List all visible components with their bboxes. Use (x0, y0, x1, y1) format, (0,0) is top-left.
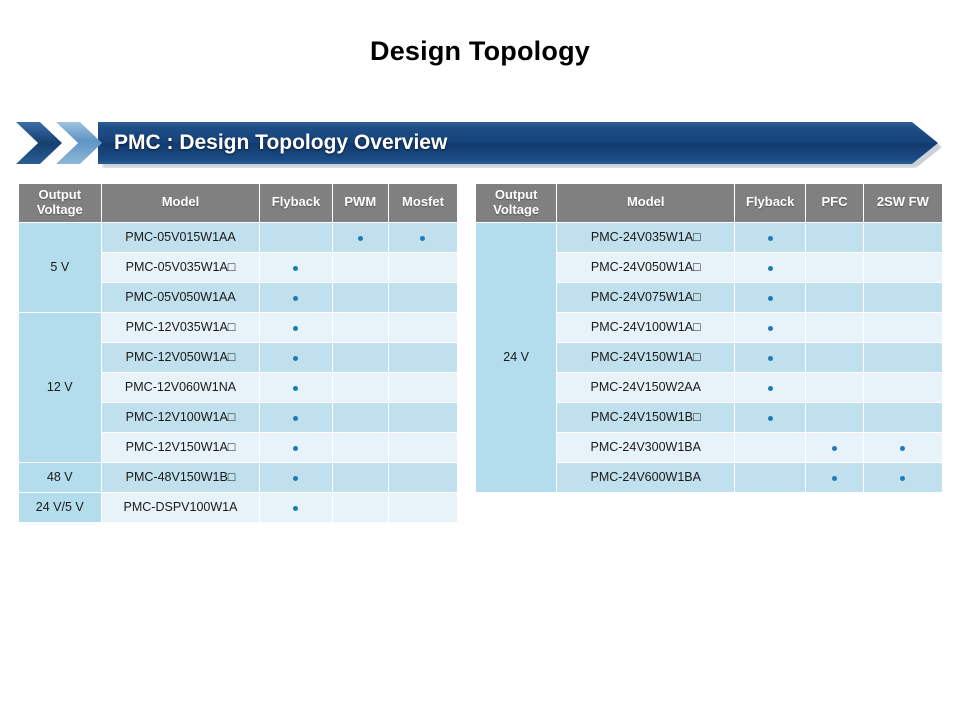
table-header-row-right: Output Voltage Model Flyback PFC 2SW FW (476, 184, 943, 223)
bullet-icon (358, 446, 363, 451)
column-header-pfc: PFC (806, 184, 864, 223)
bullet-icon (420, 296, 425, 301)
flyback-mark (735, 282, 806, 312)
model-name: PMC-12V035W1A□ (101, 312, 260, 342)
model-name: PMC-12V050W1A□ (101, 342, 260, 372)
flyback-mark (260, 462, 332, 492)
bullet-icon (900, 476, 905, 481)
pfc-mark (806, 312, 864, 342)
bullet-icon (768, 296, 773, 301)
model-name: PMC-DSPV100W1A (101, 492, 260, 522)
bullet-icon (420, 326, 425, 331)
flyback-mark (260, 312, 332, 342)
column-header-flyback: Flyback (735, 184, 806, 223)
bullet-icon (900, 326, 905, 331)
bullet-icon (832, 416, 837, 421)
bullet-icon (900, 296, 905, 301)
model-name: PMC-05V015W1AA (101, 222, 260, 252)
bullet-icon (358, 506, 363, 511)
table-row: 24 V PMC-24V035W1A□ (476, 222, 943, 252)
pfc-mark (806, 372, 864, 402)
bullet-icon (768, 356, 773, 361)
sw2fw-mark (863, 462, 942, 492)
sw2fw-mark (863, 282, 942, 312)
voltage-group-label: 12 V (19, 312, 102, 462)
flyback-mark (735, 432, 806, 462)
bullet-icon (832, 386, 837, 391)
bullet-icon (358, 296, 363, 301)
model-name: PMC-24V050W1A□ (557, 252, 735, 282)
bullet-icon (900, 446, 905, 451)
mosfet-mark (388, 222, 457, 252)
pfc-mark (806, 222, 864, 252)
flyback-mark (260, 402, 332, 432)
flyback-mark (735, 462, 806, 492)
bullet-icon (900, 266, 905, 271)
model-name: PMC-24V035W1A□ (557, 222, 735, 252)
bullet-icon (900, 236, 905, 241)
bullet-icon (293, 446, 298, 451)
table-body-right: 24 V PMC-24V035W1A□ PMC-24V050W1A□ PMC-2… (476, 222, 943, 492)
chevron-right-icon (56, 122, 102, 164)
pfc-mark (806, 402, 864, 432)
bullet-icon (358, 326, 363, 331)
bullet-icon (293, 236, 298, 241)
pwm-mark (332, 372, 388, 402)
bullet-icon (420, 356, 425, 361)
section-banner: PMC : Design Topology Overview (14, 122, 938, 164)
bullet-icon (768, 446, 773, 451)
column-header-mosfet: Mosfet (388, 184, 457, 223)
column-header-pwm: PWM (332, 184, 388, 223)
model-name: PMC-05V035W1A□ (101, 252, 260, 282)
sw2fw-mark (863, 312, 942, 342)
flyback-mark (735, 402, 806, 432)
bullet-icon (768, 236, 773, 241)
bullet-icon (420, 386, 425, 391)
model-name: PMC-12V150W1A□ (101, 432, 260, 462)
mosfet-mark (388, 462, 457, 492)
bullet-icon (420, 476, 425, 481)
model-name: PMC-24V075W1A□ (557, 282, 735, 312)
mosfet-mark (388, 492, 457, 522)
pwm-mark (332, 402, 388, 432)
bullet-icon (293, 416, 298, 421)
sw2fw-mark (863, 252, 942, 282)
bullet-icon (358, 386, 363, 391)
pwm-mark (332, 282, 388, 312)
model-name: PMC-24V150W2AA (557, 372, 735, 402)
flyback-mark (735, 222, 806, 252)
bullet-icon (293, 506, 298, 511)
bullet-icon (420, 236, 425, 241)
bullet-icon (293, 326, 298, 331)
bullet-icon (768, 416, 773, 421)
mosfet-mark (388, 282, 457, 312)
bullet-icon (832, 296, 837, 301)
chevron-right-icon (16, 122, 62, 164)
bullet-icon (768, 326, 773, 331)
banner-chevron-group (14, 122, 110, 164)
topology-table-right: Output Voltage Model Flyback PFC 2SW FW … (475, 183, 943, 493)
bullet-icon (768, 476, 773, 481)
pwm-mark (332, 222, 388, 252)
flyback-mark (735, 372, 806, 402)
bullet-icon (358, 266, 363, 271)
bullet-icon (293, 386, 298, 391)
table-body-left: 5 V PMC-05V015W1AA PMC-05V035W1A□ PMC-05… (19, 222, 458, 522)
bullet-icon (832, 236, 837, 241)
bullet-icon (420, 416, 425, 421)
bullet-icon (293, 356, 298, 361)
column-header-flyback: Flyback (260, 184, 332, 223)
bullet-icon (900, 386, 905, 391)
sw2fw-mark (863, 342, 942, 372)
voltage-group-label: 24 V (476, 222, 557, 492)
column-header-output-voltage: Output Voltage (476, 184, 557, 223)
page-title: Design Topology (0, 36, 960, 67)
mosfet-mark (388, 402, 457, 432)
pwm-mark (332, 252, 388, 282)
table-row: 12 V PMC-12V035W1A□ (19, 312, 458, 342)
pfc-mark (806, 432, 864, 462)
voltage-group-label: 48 V (19, 462, 102, 492)
sw2fw-mark (863, 432, 942, 462)
pwm-mark (332, 312, 388, 342)
mosfet-mark (388, 312, 457, 342)
bullet-icon (832, 326, 837, 331)
bullet-icon (832, 476, 837, 481)
pfc-mark (806, 252, 864, 282)
sw2fw-mark (863, 372, 942, 402)
bullet-icon (900, 356, 905, 361)
flyback-mark (260, 222, 332, 252)
mosfet-mark (388, 342, 457, 372)
banner-label: PMC : Design Topology Overview (114, 122, 447, 164)
bullet-icon (832, 446, 837, 451)
pwm-mark (332, 492, 388, 522)
flyback-mark (735, 312, 806, 342)
table-row: 5 V PMC-05V015W1AA (19, 222, 458, 252)
table-row: 24 V/5 V PMC-DSPV100W1A (19, 492, 458, 522)
flyback-mark (735, 252, 806, 282)
voltage-group-label: 24 V/5 V (19, 492, 102, 522)
sw2fw-mark (863, 402, 942, 432)
flyback-mark (735, 342, 806, 372)
bullet-icon (420, 266, 425, 271)
mosfet-mark (388, 372, 457, 402)
table-header-row-left: Output Voltage Model Flyback PWM Mosfet (19, 184, 458, 223)
pfc-mark (806, 342, 864, 372)
flyback-mark (260, 492, 332, 522)
column-header-2sw-fw: 2SW FW (863, 184, 942, 223)
topology-table-left: Output Voltage Model Flyback PWM Mosfet … (18, 183, 458, 523)
bullet-icon (358, 476, 363, 481)
bullet-icon (768, 386, 773, 391)
voltage-group-label: 5 V (19, 222, 102, 312)
mosfet-mark (388, 432, 457, 462)
column-header-output-voltage: Output Voltage (19, 184, 102, 223)
model-name: PMC-48V150W1B□ (101, 462, 260, 492)
sw2fw-mark (863, 222, 942, 252)
bullet-icon (832, 356, 837, 361)
bullet-icon (358, 236, 363, 241)
model-name: PMC-24V150W1B□ (557, 402, 735, 432)
model-name: PMC-24V600W1BA (557, 462, 735, 492)
flyback-mark (260, 252, 332, 282)
flyback-mark (260, 432, 332, 462)
bullet-icon (832, 266, 837, 271)
column-header-model: Model (557, 184, 735, 223)
bullet-icon (293, 296, 298, 301)
table-row: 48 V PMC-48V150W1B□ (19, 462, 458, 492)
column-header-model: Model (101, 184, 260, 223)
bullet-icon (293, 266, 298, 271)
model-name: PMC-24V150W1A□ (557, 342, 735, 372)
flyback-mark (260, 342, 332, 372)
flyback-mark (260, 282, 332, 312)
bullet-icon (900, 416, 905, 421)
pwm-mark (332, 462, 388, 492)
flyback-mark (260, 372, 332, 402)
bullet-icon (420, 506, 425, 511)
pfc-mark (806, 462, 864, 492)
bullet-icon (358, 356, 363, 361)
model-name: PMC-12V060W1NA (101, 372, 260, 402)
pwm-mark (332, 432, 388, 462)
mosfet-mark (388, 252, 457, 282)
model-name: PMC-12V100W1A□ (101, 402, 260, 432)
model-name: PMC-05V050W1AA (101, 282, 260, 312)
bullet-icon (768, 266, 773, 271)
pfc-mark (806, 282, 864, 312)
pwm-mark (332, 342, 388, 372)
model-name: PMC-24V300W1BA (557, 432, 735, 462)
bullet-icon (293, 476, 298, 481)
model-name: PMC-24V100W1A□ (557, 312, 735, 342)
bullet-icon (420, 446, 425, 451)
bullet-icon (358, 416, 363, 421)
